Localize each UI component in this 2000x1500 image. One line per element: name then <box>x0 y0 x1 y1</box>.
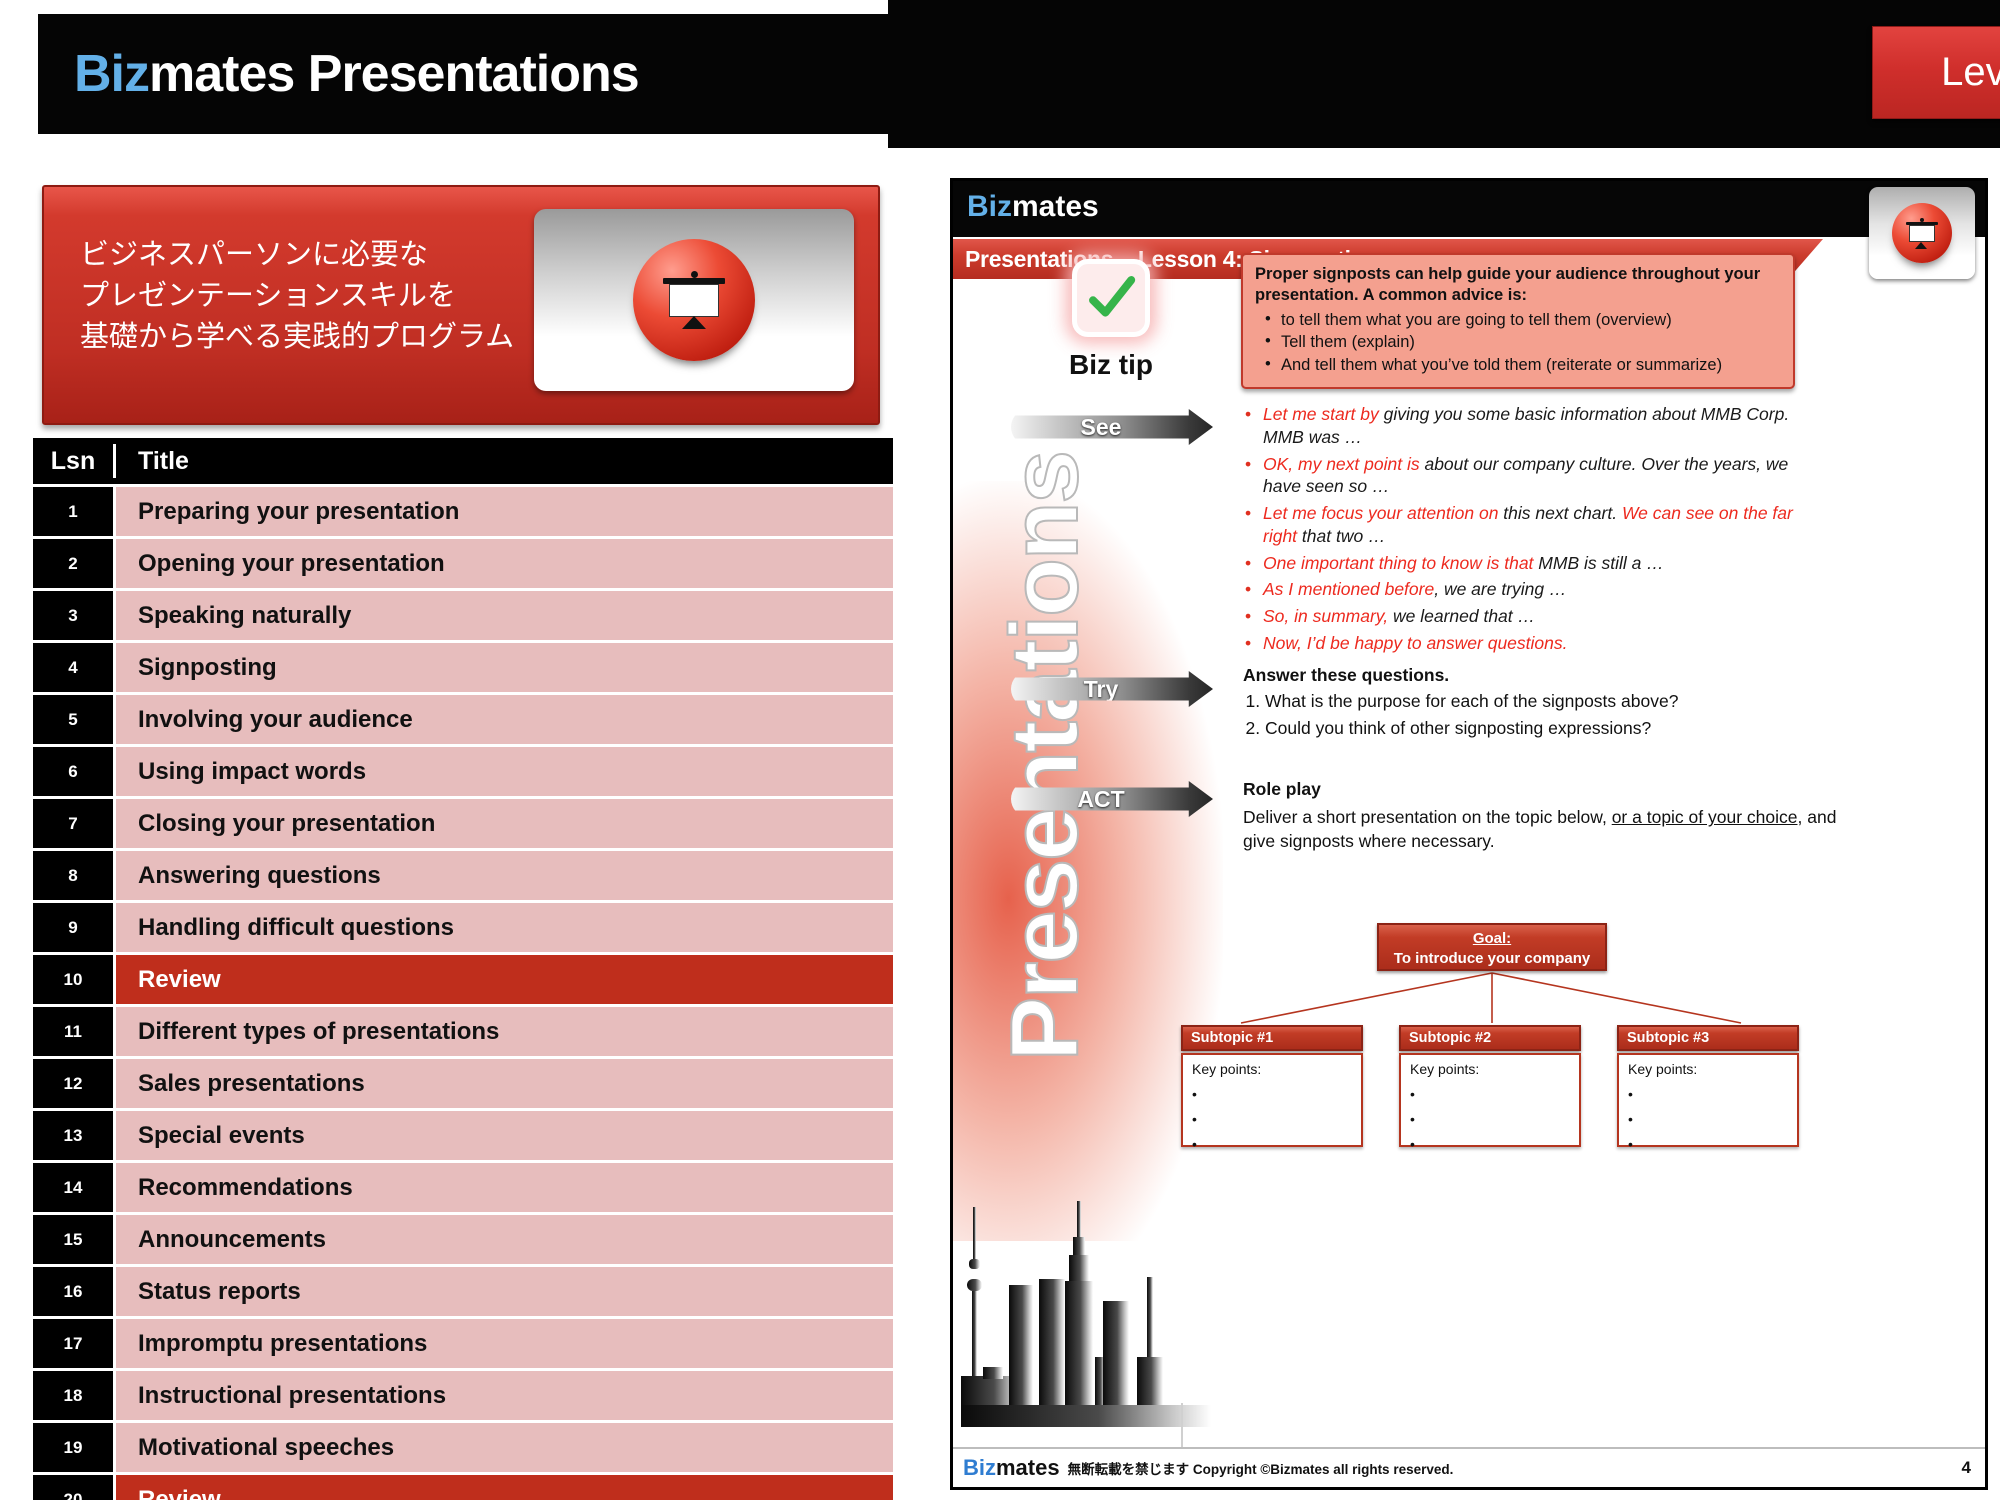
page-title: Bizmates Presentations <box>74 44 639 104</box>
lesson-number: 9 <box>33 903 113 952</box>
table-row[interactable]: 4Signposting <box>33 643 893 692</box>
keypoint-bullet: • <box>1628 1136 1797 1152</box>
lesson-table-header: Lsn Title <box>33 438 893 484</box>
biz-tip-intro: Proper signposts can help guide your aud… <box>1255 264 1781 306</box>
table-row[interactable]: 10Review <box>33 955 893 1004</box>
lesson-title: Impromptu presentations <box>116 1319 893 1368</box>
biz-tip-bullet: to tell them what you are going to tell … <box>1261 310 1781 331</box>
see-example-item: Let me focus your attention on this next… <box>1243 502 1823 548</box>
column-header-lsn: Lsn <box>33 447 113 476</box>
lesson-table-body: 1Preparing your presentation2Opening you… <box>33 487 893 1500</box>
try-question: Could you think of other signposting exp… <box>1265 717 1843 741</box>
example-rest: we learned that … <box>1388 606 1535 626</box>
lesson-title: Closing your presentation <box>116 799 893 848</box>
lesson-number: 7 <box>33 799 113 848</box>
slide-brand: Bizmates <box>967 190 1099 224</box>
lesson-number: 8 <box>33 851 113 900</box>
tab-see-label: See <box>1081 414 1122 441</box>
lesson-title: Involving your audience <box>116 695 893 744</box>
diagram-subtopic-3-header: Subtopic #3 <box>1617 1025 1799 1051</box>
lesson-number: 6 <box>33 747 113 796</box>
tab-act-label: ACT <box>1077 786 1124 813</box>
keypoint-bullet: • <box>1410 1086 1579 1102</box>
page-title-bar: Bizmates Presentations <box>38 14 888 134</box>
diagram-subtopic-2-header: Subtopic #2 <box>1399 1025 1581 1051</box>
table-row[interactable]: 13Special events <box>33 1111 893 1160</box>
lesson-title: Handling difficult questions <box>116 903 893 952</box>
footer-brand-mates: mates <box>996 1455 1060 1480</box>
lesson-title: Sales presentations <box>116 1059 893 1108</box>
keypoint-bullet: • <box>1410 1111 1579 1127</box>
table-row[interactable]: 20Review <box>33 1475 893 1500</box>
lesson-title: Preparing your presentation <box>116 487 893 536</box>
signpost-phrase: Now, I’d be happy to answer questions. <box>1263 633 1568 653</box>
table-row[interactable]: 12Sales presentations <box>33 1059 893 1108</box>
diagram-subtopic-1-header: Subtopic #1 <box>1181 1025 1363 1051</box>
see-example-item: OK, my next point is about our company c… <box>1243 453 1823 499</box>
see-example-item: Let me start by giving you some basic in… <box>1243 403 1823 449</box>
signpost-phrase: Let me start by <box>1263 404 1379 424</box>
act-heading: Role play <box>1243 777 1863 801</box>
signpost-phrase: One important thing to know is that <box>1263 553 1533 573</box>
lesson-number: 14 <box>33 1163 113 1212</box>
slide-brand-mates: mates <box>1012 190 1099 223</box>
keypoints-label-2: Key points: <box>1410 1061 1579 1077</box>
slide-overview-page: Bizmates Presentations Level: 1 2 3 4 5 … <box>0 0 2000 1500</box>
example-rest: MMB is still a … <box>1533 553 1663 573</box>
biz-tip-bullet: And tell them what you’ve told them (rei… <box>1261 355 1781 376</box>
page-title-suffix: Presentations <box>294 45 638 103</box>
lesson-number: 1 <box>33 487 113 536</box>
keypoint-bullet: • <box>1192 1086 1361 1102</box>
course-icon-panel <box>534 209 854 391</box>
table-row[interactable]: 19Motivational speeches <box>33 1423 893 1472</box>
table-row[interactable]: 1Preparing your presentation <box>33 487 893 536</box>
table-row[interactable]: 16Status reports <box>33 1267 893 1316</box>
lesson-number: 12 <box>33 1059 113 1108</box>
table-row[interactable]: 5Involving your audience <box>33 695 893 744</box>
lesson-title: Opening your presentation <box>116 539 893 588</box>
footer-brand-biz: Biz <box>963 1455 996 1480</box>
act-section: Role play Deliver a short presentation o… <box>1243 777 1863 853</box>
see-example-item: So, in summary, we learned that … <box>1243 605 1823 628</box>
lesson-number: 4 <box>33 643 113 692</box>
lesson-number: 10 <box>33 955 113 1004</box>
lesson-number: 20 <box>33 1475 113 1500</box>
brand-mates-text: mates <box>149 45 294 103</box>
lesson-number: 18 <box>33 1371 113 1420</box>
slide-course-icon-panel <box>1869 187 1975 279</box>
slide-page-number: 4 <box>1962 1458 1985 1478</box>
course-tagline-text: ビジネスパーソンに必要な プレゼンテーションスキルを 基礎から学べる実践的プログ… <box>80 235 514 359</box>
footer-copyright: 無断転載を禁じます Copyright ©Bizmates all rights… <box>1060 1458 1454 1478</box>
table-row[interactable]: 9Handling difficult questions <box>33 903 893 952</box>
lesson-title: Status reports <box>116 1267 893 1316</box>
keypoint-bullet: • <box>1628 1111 1797 1127</box>
see-example-item: Now, I’d be happy to answer questions. <box>1243 632 1823 655</box>
lesson-number: 16 <box>33 1267 113 1316</box>
diagram-goal-box: Goal: To introduce your company <box>1377 923 1607 971</box>
lesson-title: Review <box>116 1475 893 1500</box>
table-row[interactable]: 14Recommendations <box>33 1163 893 1212</box>
lesson-slide-preview: Presentations <box>950 178 1988 1490</box>
footer-divider <box>1181 1403 1183 1447</box>
lesson-number: 2 <box>33 539 113 588</box>
lesson-number: 3 <box>33 591 113 640</box>
signpost-phrase: So, in summary, <box>1263 606 1388 626</box>
table-row[interactable]: 18Instructional presentations <box>33 1371 893 1420</box>
lesson-title: Review <box>116 955 893 1004</box>
lesson-title: Speaking naturally <box>116 591 893 640</box>
biz-tip-bullet: Tell them (explain) <box>1261 332 1781 353</box>
try-question: What is the purpose for each of the sign… <box>1265 690 1843 714</box>
signpost-phrase: Let me focus your attention on <box>1263 503 1498 523</box>
diagram-goal-text: To introduce your company <box>1394 950 1590 967</box>
keypoints-label-3: Key points: <box>1628 1061 1797 1077</box>
table-row[interactable]: 11Different types of presentations <box>33 1007 893 1056</box>
diagram-goal-label: Goal: <box>1473 930 1511 947</box>
example-rest-2: that two … <box>1297 526 1386 546</box>
course-tagline-box: ビジネスパーソンに必要な プレゼンテーションスキルを 基礎から学べる実践的プログ… <box>42 185 880 425</box>
level-label-block: Level: <box>1872 26 2000 119</box>
lesson-title: Motivational speeches <box>116 1423 893 1472</box>
try-question-list: What is the purpose for each of the sign… <box>1265 690 1843 740</box>
try-section: Answer these questions. What is the purp… <box>1243 665 1843 743</box>
try-heading: Answer these questions. <box>1243 665 1843 686</box>
keypoint-bullet: • <box>1192 1111 1361 1127</box>
lesson-number: 5 <box>33 695 113 744</box>
slide-footer: Bizmates 無断転載を禁じます Copyright ©Bizmates a… <box>953 1447 1985 1487</box>
city-skyline-graphic <box>961 1197 1211 1427</box>
act-text-underlined: or a topic of your choice <box>1612 807 1798 827</box>
level-label: Level: <box>1941 50 2000 95</box>
table-row[interactable]: 6Using impact words <box>33 747 893 796</box>
see-example-list: Let me start by giving you some basic in… <box>1243 403 1823 659</box>
keypoint-bullet: • <box>1628 1086 1797 1102</box>
keypoint-bullet: • <box>1192 1136 1361 1152</box>
biz-tip-bullet-list: to tell them what you are going to tell … <box>1261 310 1781 376</box>
lesson-title: Different types of presentations <box>116 1007 893 1056</box>
act-text-before: Deliver a short presentation on the topi… <box>1243 807 1612 827</box>
diagram-keypoints-2: Key points: ••• <box>1399 1053 1581 1147</box>
tab-see[interactable]: See <box>1011 409 1213 445</box>
slide-brand-biz: Biz <box>967 190 1012 223</box>
tab-act[interactable]: ACT <box>1011 781 1213 817</box>
presentation-easel-icon <box>633 239 755 361</box>
tab-try-label: Try <box>1084 676 1119 703</box>
column-header-title: Title <box>116 447 893 476</box>
signpost-phrase: OK, my next point is <box>1263 454 1420 474</box>
brand-biz-text: Biz <box>74 45 149 103</box>
biz-tip-box: Proper signposts can help guide your aud… <box>1241 253 1795 389</box>
table-row[interactable]: 2Opening your presentation <box>33 539 893 588</box>
table-row[interactable]: 15Announcements <box>33 1215 893 1264</box>
diagram-keypoints-1: Key points: ••• <box>1181 1053 1363 1147</box>
level-indicator-band: Level: 1 2 3 4 5 <box>888 0 2000 148</box>
biz-tip-block: Biz tip <box>1031 259 1191 381</box>
lesson-title: Announcements <box>116 1215 893 1264</box>
keypoint-bullet: • <box>1410 1136 1579 1152</box>
lesson-number: 15 <box>33 1215 113 1264</box>
example-rest: this next chart. <box>1498 503 1622 523</box>
goal-subtopic-diagram: Goal: To introduce your company Subtopic… <box>1181 923 1941 1143</box>
see-example-item: One important thing to know is that MMB … <box>1243 552 1823 575</box>
lesson-number: 19 <box>33 1423 113 1472</box>
table-row[interactable]: 7Closing your presentation <box>33 799 893 848</box>
footer-brand: Bizmates <box>953 1455 1060 1481</box>
lesson-title: Recommendations <box>116 1163 893 1212</box>
lesson-title: Special events <box>116 1111 893 1160</box>
table-row[interactable]: 8Answering questions <box>33 851 893 900</box>
example-rest: , we are trying … <box>1434 579 1566 599</box>
table-row[interactable]: 3Speaking naturally <box>33 591 893 640</box>
tab-try[interactable]: Try <box>1011 671 1213 707</box>
table-row[interactable]: 17Impromptu presentations <box>33 1319 893 1368</box>
biz-tip-label: Biz tip <box>1031 349 1191 381</box>
see-example-item: As I mentioned before, we are trying … <box>1243 578 1823 601</box>
act-instructions: Deliver a short presentation on the topi… <box>1243 805 1863 853</box>
diagram-keypoints-3: Key points: ••• <box>1617 1053 1799 1147</box>
signpost-phrase: As I mentioned before <box>1263 579 1434 599</box>
lesson-title: Signposting <box>116 643 893 692</box>
lesson-number: 17 <box>33 1319 113 1368</box>
lesson-table: Lsn Title 1Preparing your presentation2O… <box>33 438 893 1500</box>
slide-top-bar: Bizmates <box>953 181 1985 237</box>
lesson-number: 13 <box>33 1111 113 1160</box>
lesson-title: Using impact words <box>116 747 893 796</box>
lesson-title: Answering questions <box>116 851 893 900</box>
lesson-number: 11 <box>33 1007 113 1056</box>
lesson-title: Instructional presentations <box>116 1371 893 1420</box>
green-check-icon <box>1072 259 1150 337</box>
keypoints-label-1: Key points: <box>1192 1061 1361 1077</box>
presentation-easel-icon-small <box>1892 203 1952 263</box>
